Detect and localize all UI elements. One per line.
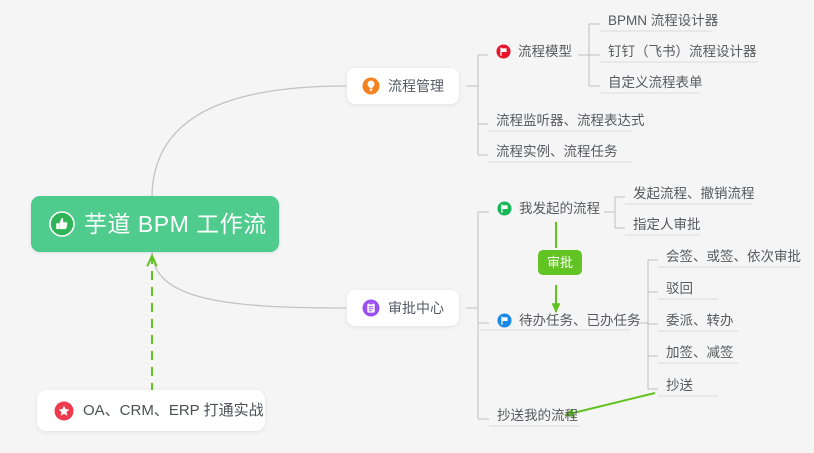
node-label: 委派、转办 [666,314,734,328]
node-label: 自定义流程表单 [608,76,703,90]
star-icon [54,401,74,421]
bottom-note-box[interactable]: OA、CRM、ERP 打通实战 [37,390,265,431]
node-label: 抄送 [666,379,693,393]
node-label: 发起流程、撤销流程 [633,187,755,201]
flag-icon [497,313,512,328]
node-process-model[interactable]: 流程模型 [488,44,580,64]
node-assignee-approval[interactable]: 指定人审批 [625,218,709,237]
branch-label: 审批中心 [388,301,444,315]
flag-icon [497,201,512,216]
node-bpmn-designer[interactable]: BPMN 流程设计器 [600,14,726,33]
node-my-initiated[interactable]: 我发起的流程 [489,201,608,221]
node-start-cancel-process[interactable]: 发起流程、撤销流程 [625,187,763,206]
branch-label: 流程管理 [388,79,444,93]
node-reject[interactable]: 驳回 [658,282,701,301]
node-label: 流程模型 [518,45,572,59]
node-todo-done-tasks[interactable]: 待办任务、已办任务 [489,313,649,333]
node-label: 抄送我的流程 [497,409,578,423]
node-label: 会签、或签、依次审批 [666,250,801,264]
node-label: 流程实例、流程任务 [496,145,618,159]
root-label: 芋道 BPM 工作流 [84,213,267,236]
node-label: 指定人审批 [633,218,701,232]
approval-annotation-tag: 审批 [538,250,582,275]
node-countersign[interactable]: 会签、或签、依次审批 [658,250,809,269]
node-label: 我发起的流程 [519,202,600,216]
node-process-listener[interactable]: 流程监听器、流程表达式 [488,114,653,133]
root-node[interactable]: 芋道 BPM 工作流 [31,196,279,252]
node-carbon-copy[interactable]: 抄送 [658,379,701,398]
bottom-note-label: OA、CRM、ERP 打通实战 [83,403,264,418]
node-label: 加签、减签 [666,346,734,360]
clipboard-icon [362,299,380,317]
lightbulb-icon [362,77,380,95]
approval-tag-label: 审批 [547,255,573,270]
node-label: 驳回 [666,282,693,296]
flag-icon [496,44,511,59]
branch-process-management[interactable]: 流程管理 [347,68,459,104]
node-process-instance[interactable]: 流程实例、流程任务 [488,145,626,164]
branch-approval-center[interactable]: 审批中心 [347,290,459,326]
node-label: BPMN 流程设计器 [608,14,718,28]
node-add-remove-sign[interactable]: 加签、减签 [658,346,742,365]
node-label: 钉钉（飞书）流程设计器 [608,45,757,59]
thumbs-up-icon [49,211,75,237]
node-label: 流程监听器、流程表达式 [496,114,645,128]
node-custom-form[interactable]: 自定义流程表单 [600,76,711,95]
node-label: 待办任务、已办任务 [519,314,641,328]
mindmap-canvas: 芋道 BPM 工作流 流程管理 流程模型 BPMN 流程设计器 钉钉（飞书）流程 [0,0,814,453]
node-cc-to-me[interactable]: 抄送我的流程 [489,409,586,428]
node-delegate-transfer[interactable]: 委派、转办 [658,314,742,333]
node-dingtalk-designer[interactable]: 钉钉（飞书）流程设计器 [600,45,765,64]
